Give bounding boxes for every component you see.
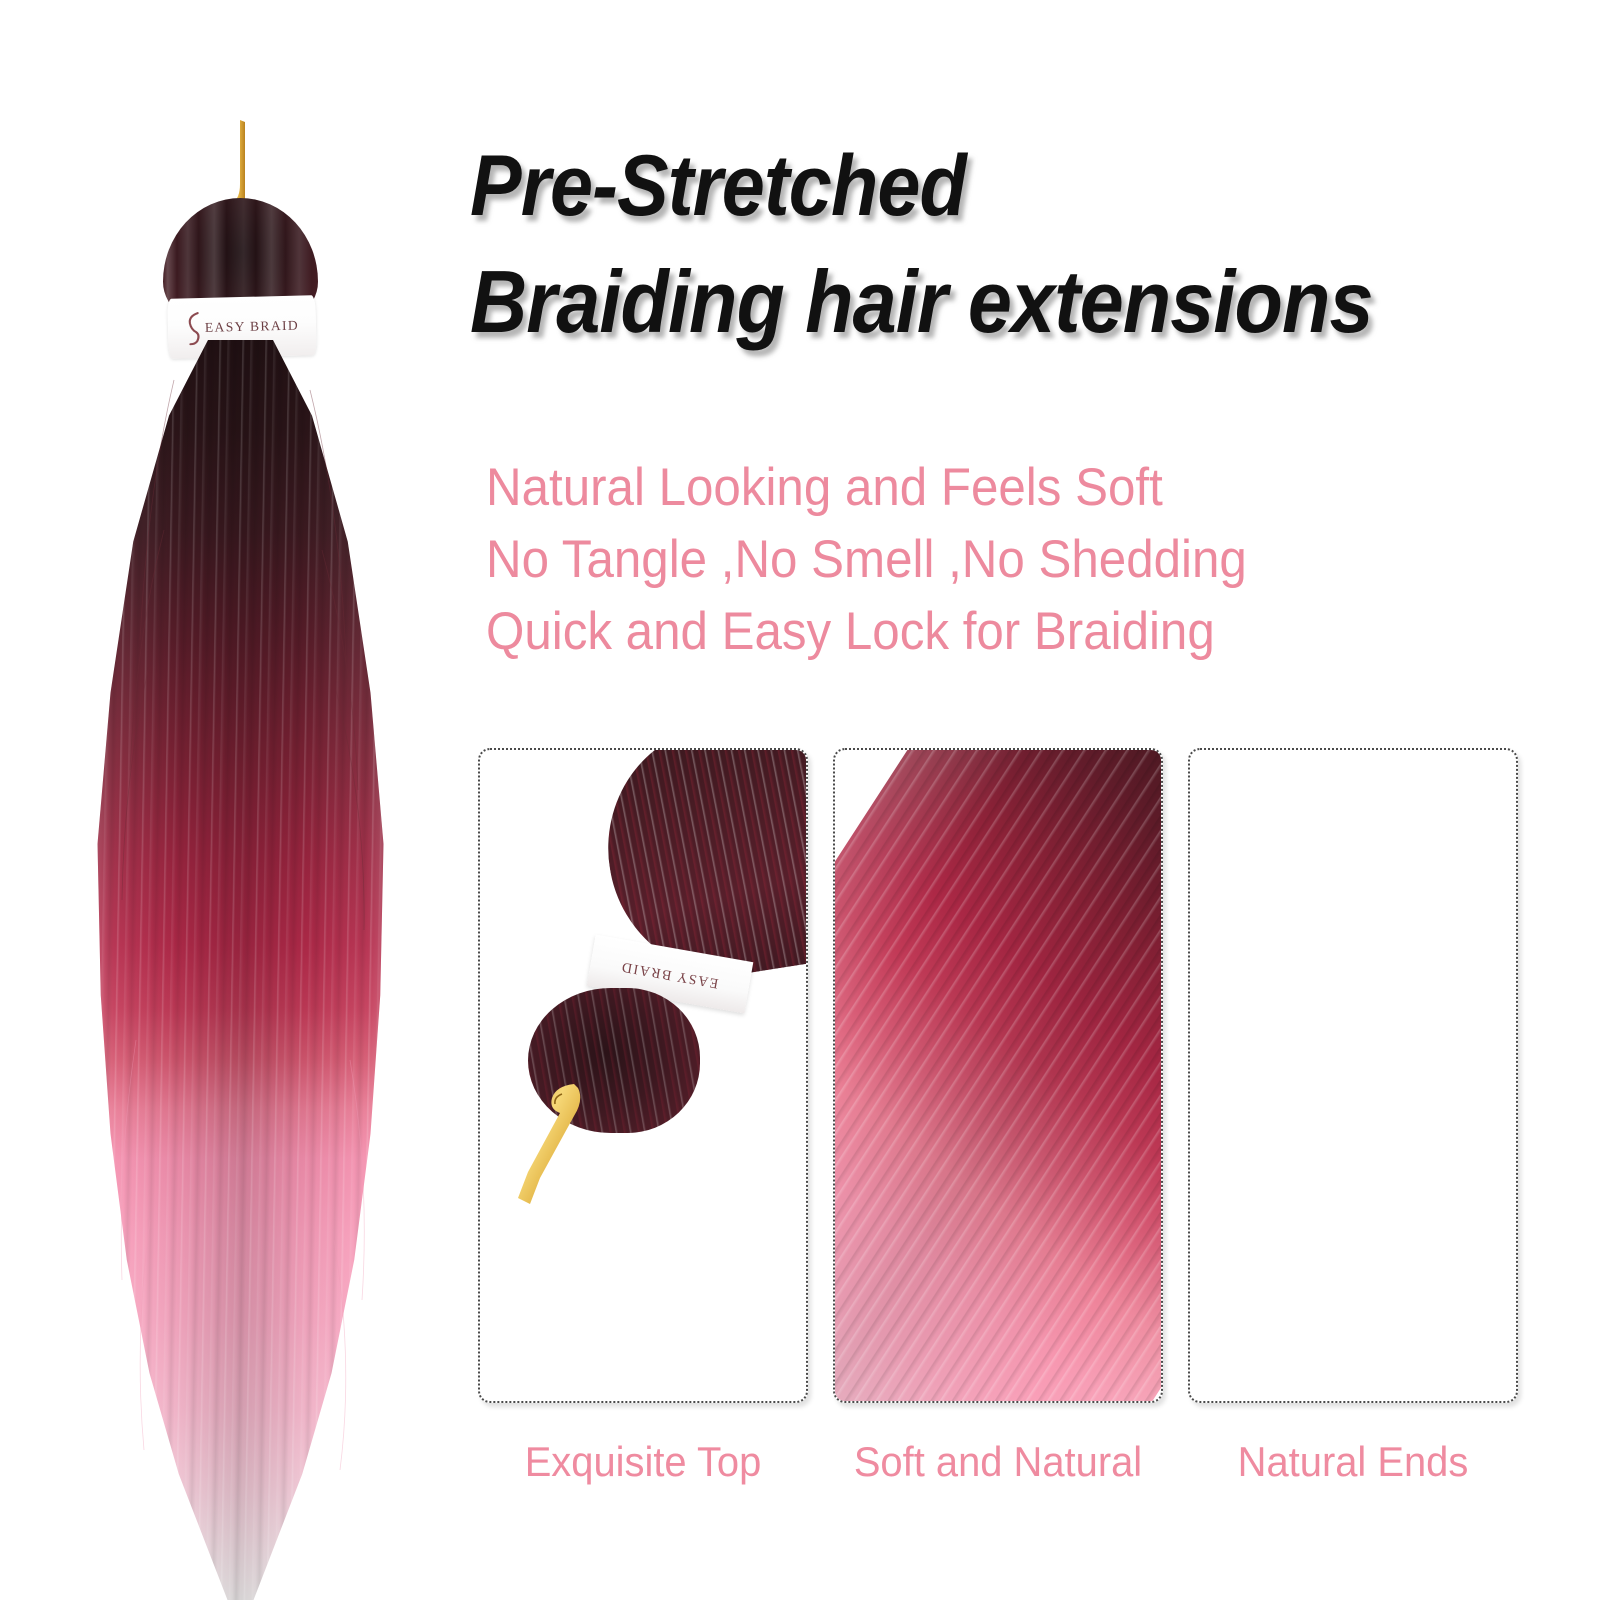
hair-shaft-ombre bbox=[78, 340, 403, 1600]
product-marketing-image: EASY BRAID bbox=[0, 0, 1600, 1600]
feature-line-3: Quick and Easy Lock for Braiding bbox=[486, 596, 1453, 668]
caption-exquisite-top: Exquisite Top bbox=[486, 1432, 800, 1502]
hair-swatch-diagonal bbox=[835, 750, 1161, 1401]
feature-line-2: No Tangle ,No Smell ,No Shedding bbox=[486, 524, 1453, 596]
panel-caption-row: Exquisite Top Soft and Natural Natural E… bbox=[478, 1432, 1568, 1502]
brand-label: EASY BRAID bbox=[205, 318, 300, 336]
hero-hair-bundle: EASY BRAID bbox=[60, 100, 420, 1540]
caption-soft-and-natural: Soft and Natural bbox=[841, 1432, 1155, 1502]
panel-image-soft-and-natural bbox=[835, 750, 1161, 1401]
panel-image-exquisite-top: EASY BRAID bbox=[480, 750, 806, 1401]
headline: Pre-Stretched Braiding hair extensions bbox=[470, 128, 1600, 360]
brand-label-closeup: EASY BRAID bbox=[620, 958, 720, 991]
feature-line-1: Natural Looking and Feels Soft bbox=[486, 452, 1453, 524]
headline-line-2: Braiding hair extensions bbox=[470, 244, 1487, 360]
detail-panel-natural-ends bbox=[1188, 748, 1518, 1403]
caption-natural-ends: Natural Ends bbox=[1196, 1432, 1510, 1502]
hair-tapered-tip bbox=[1190, 750, 1516, 1401]
detail-panel-exquisite-top: EASY BRAID bbox=[478, 748, 808, 1403]
gold-hook-icon-closeup bbox=[504, 1080, 594, 1210]
detail-panel-row: EASY BRAID bbox=[478, 748, 1568, 1408]
panel-image-natural-ends bbox=[1190, 750, 1516, 1401]
headline-line-1: Pre-Stretched bbox=[470, 128, 1487, 244]
detail-panel-soft-and-natural bbox=[833, 748, 1163, 1403]
feature-list: Natural Looking and Feels Soft No Tangle… bbox=[486, 452, 1526, 668]
hair-shaft-wrap bbox=[60, 340, 420, 1600]
